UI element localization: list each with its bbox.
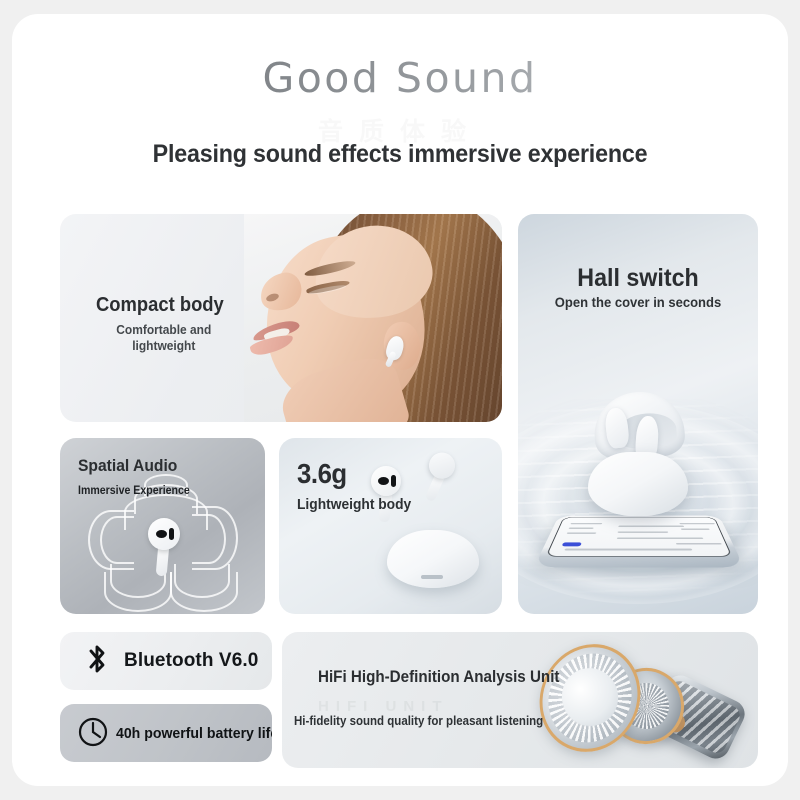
spatial-audio-title: Spatial Audio xyxy=(78,456,177,476)
phone-ui-line xyxy=(569,527,594,528)
sound-wave-arc xyxy=(192,506,238,570)
earbud-head xyxy=(426,449,459,482)
hifi-subtitle: Hi-fidelity sound quality for pleasant l… xyxy=(294,714,543,730)
card-hifi-unit: HIFI UNIT HiFi High-Definition Analysis … xyxy=(282,632,758,768)
phone-ui-line xyxy=(564,549,692,551)
woman-wearing-earbud-image xyxy=(244,214,502,422)
hall-switch-title: Hall switch xyxy=(526,264,749,293)
bluetooth-label: Bluetooth V6.0 xyxy=(124,650,258,672)
clock-icon xyxy=(76,714,110,753)
case-body xyxy=(588,452,688,516)
compact-body-subtitle: Comfortable and lightweight xyxy=(104,322,224,355)
infographic-page: Good Sound 音质体验 Pleasing sound effects i… xyxy=(12,14,788,786)
card-battery-life: 40h powerful battery life xyxy=(60,704,272,762)
phone-ui-line xyxy=(618,526,684,527)
charging-case-image xyxy=(580,390,696,516)
card-spatial-audio: Spatial Audio Immersive Experience xyxy=(60,438,265,614)
card-compact-body: Compact body Comfortable and lightweight xyxy=(60,214,502,422)
bluetooth-icon xyxy=(84,642,110,681)
phone-ui-line xyxy=(618,531,669,532)
hall-switch-subtitle: Open the cover in seconds xyxy=(526,292,749,313)
earbud-port-oval xyxy=(156,530,167,538)
charging-case-image xyxy=(387,530,479,588)
sound-wave-arc xyxy=(88,510,134,570)
phone-ui-line xyxy=(617,537,703,539)
card-hall-switch: Hall switch Open the cover in seconds xyxy=(518,214,758,614)
sound-wave-arc xyxy=(170,572,238,612)
weight-title: 3.6g xyxy=(297,458,347,490)
speaker-driver-image xyxy=(532,638,752,768)
compact-body-title: Compact body xyxy=(96,294,224,317)
phone-accent-badge xyxy=(562,542,582,546)
phone-ui-line xyxy=(570,523,602,524)
hifi-ghost-watermark: HIFI UNIT xyxy=(318,698,449,715)
sound-wave-arc xyxy=(104,572,172,612)
battery-life-label: 40h powerful battery life xyxy=(116,725,272,742)
earbud-port-oval xyxy=(378,477,389,485)
weight-subtitle: Lightweight body xyxy=(297,496,411,515)
page-subtitle: Pleasing sound effects immersive experie… xyxy=(39,140,761,169)
earbud-right-image xyxy=(418,449,459,506)
earbud-port-slot xyxy=(391,475,396,487)
hifi-title: HiFi High-Definition Analysis Unit xyxy=(318,668,559,687)
spatial-audio-subtitle: Immersive Experience xyxy=(78,484,190,498)
phone-ui-line xyxy=(567,532,597,534)
spatial-earbud-image xyxy=(148,518,180,576)
earbud-port-slot xyxy=(169,528,174,540)
brand-title: Good Sound xyxy=(12,54,788,102)
card-weight: 3.6g Lightweight body xyxy=(279,438,502,614)
card-bluetooth: Bluetooth V6.0 xyxy=(60,632,272,690)
